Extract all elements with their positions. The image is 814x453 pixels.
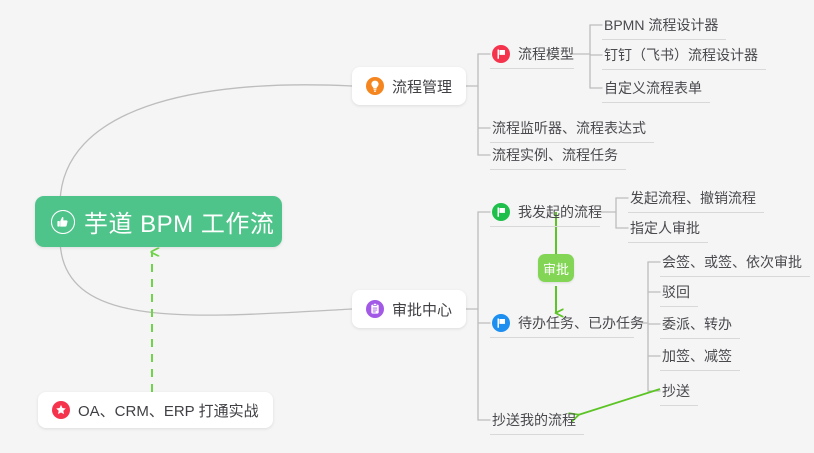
- node-process-model[interactable]: 流程模型: [490, 39, 574, 69]
- node-label: 抄送我的流程: [492, 410, 576, 430]
- node-label: 委派、转办: [662, 314, 732, 334]
- node-label: 加签、减签: [662, 346, 732, 366]
- card-label: OA、CRM、ERP 打通实战: [78, 400, 259, 421]
- node-cc[interactable]: 抄送: [660, 376, 698, 406]
- node-process-instance-task[interactable]: 流程实例、流程任务: [490, 140, 626, 170]
- node-label: 指定人审批: [630, 218, 700, 238]
- node-reject[interactable]: 驳回: [660, 277, 698, 307]
- card-integration-practice[interactable]: OA、CRM、ERP 打通实战: [38, 392, 273, 428]
- node-label: 会签、或签、依次审批: [662, 252, 802, 272]
- node-assignee-approval[interactable]: 指定人审批: [628, 213, 708, 243]
- node-process-listener-expression[interactable]: 流程监听器、流程表达式: [490, 113, 654, 143]
- node-custom-process-form[interactable]: 自定义流程表单: [602, 73, 710, 103]
- node-start-cancel-process[interactable]: 发起流程、撤销流程: [628, 183, 764, 213]
- lightbulb-icon: [366, 77, 384, 95]
- node-label: 自定义流程表单: [604, 78, 702, 98]
- flag-icon: [492, 45, 510, 63]
- node-label: 流程实例、流程任务: [492, 145, 618, 165]
- node-bpmn-designer[interactable]: BPMN 流程设计器: [602, 10, 726, 40]
- root-node[interactable]: 芋道 BPM 工作流: [35, 196, 282, 247]
- node-label: 流程模型: [518, 44, 574, 64]
- node-label: 流程监听器、流程表达式: [492, 118, 646, 138]
- branch-process-management[interactable]: 流程管理: [352, 67, 466, 105]
- star-icon: [52, 401, 70, 419]
- approval-badge[interactable]: 审批: [538, 254, 574, 282]
- node-label: 钉钉（飞书）流程设计器: [604, 45, 758, 65]
- node-joint-or-sequential-approval[interactable]: 会签、或签、依次审批: [660, 247, 810, 277]
- thumbs-up-icon: [51, 210, 75, 234]
- node-add-remove-signature[interactable]: 加签、减签: [660, 341, 740, 371]
- cc-link-arrow: [578, 389, 660, 415]
- node-delegate-transfer[interactable]: 委派、转办: [660, 309, 740, 339]
- branch-label: 流程管理: [392, 76, 452, 97]
- node-my-initiated-process[interactable]: 我发起的流程: [490, 197, 600, 227]
- node-label: 抄送: [662, 381, 690, 401]
- node-dingtalk-feishu-designer[interactable]: 钉钉（飞书）流程设计器: [602, 40, 766, 70]
- clipboard-icon: [366, 300, 384, 318]
- flag-icon: [492, 314, 510, 332]
- node-label: 发起流程、撤销流程: [630, 188, 756, 208]
- node-label: 驳回: [662, 282, 690, 302]
- branch-label: 审批中心: [392, 299, 452, 320]
- node-todo-done-task[interactable]: 待办任务、已办任务: [490, 308, 634, 338]
- node-label: 我发起的流程: [518, 202, 602, 222]
- mindmap-canvas: 芋道 BPM 工作流 流程管理 流程模型 BPMN 流程设计器 钉钉: [0, 0, 814, 453]
- root-label: 芋道 BPM 工作流: [84, 204, 274, 239]
- flag-icon: [492, 203, 510, 221]
- node-label: BPMN 流程设计器: [604, 15, 718, 35]
- approval-badge-label: 审批: [543, 259, 569, 278]
- node-label: 待办任务、已办任务: [518, 313, 644, 333]
- branch-approval-center[interactable]: 审批中心: [352, 290, 466, 328]
- node-cc-to-me-process[interactable]: 抄送我的流程: [490, 405, 584, 435]
